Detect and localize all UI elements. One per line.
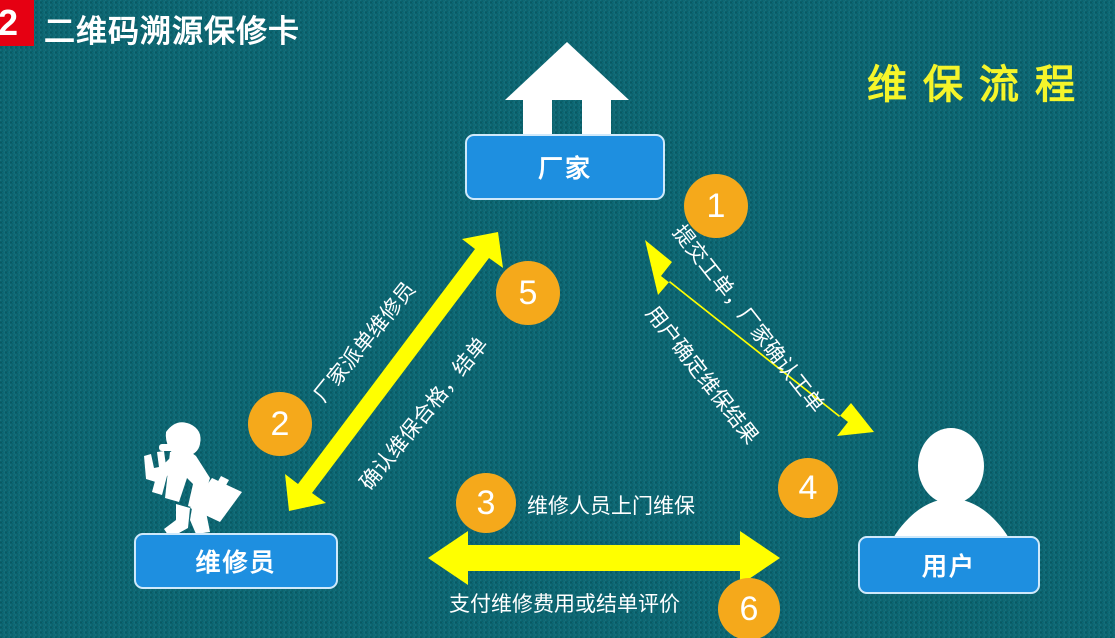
worker-walking-icon: [126, 418, 256, 542]
step-circle-5[interactable]: 5: [496, 261, 560, 325]
edge-label-repairman-to-factory: 确认维保合格，结单: [352, 330, 494, 496]
page-title: 二维码溯源保修卡: [44, 6, 300, 51]
step-circle-4[interactable]: 4: [778, 458, 838, 518]
step-circle-1[interactable]: 1: [684, 174, 748, 238]
slide-number-badge: 2: [0, 0, 34, 46]
node-factory-label: 厂家: [538, 149, 592, 185]
node-user-label: 用户: [922, 547, 976, 583]
node-repairman-label: 维修员: [195, 543, 276, 579]
step-circle-2[interactable]: 2: [248, 392, 312, 456]
edge-label-repairman-to-user: 维修人员上门维保: [527, 490, 695, 520]
step-circle-6[interactable]: 6: [718, 578, 780, 638]
edge-label-user-to-factory: 提交工单，厂家确认工单: [666, 218, 832, 419]
slide-canvas: 2 二维码溯源保修卡 维保流程: [0, 0, 1115, 638]
arrow-repairman-user: [428, 531, 780, 585]
node-repairman[interactable]: 维修员: [134, 533, 338, 589]
house-icon: [505, 42, 629, 142]
edge-label-factory-to-repairman: 厂家派单维修员: [306, 275, 422, 408]
node-factory[interactable]: 厂家: [465, 134, 665, 200]
step-circle-3[interactable]: 3: [456, 473, 516, 533]
section-title: 维保流程: [867, 52, 1091, 110]
person-icon: [872, 428, 1030, 548]
edge-label-user-to-repairman: 支付维修费用或结单评价: [449, 588, 680, 618]
node-user[interactable]: 用户: [858, 536, 1040, 594]
